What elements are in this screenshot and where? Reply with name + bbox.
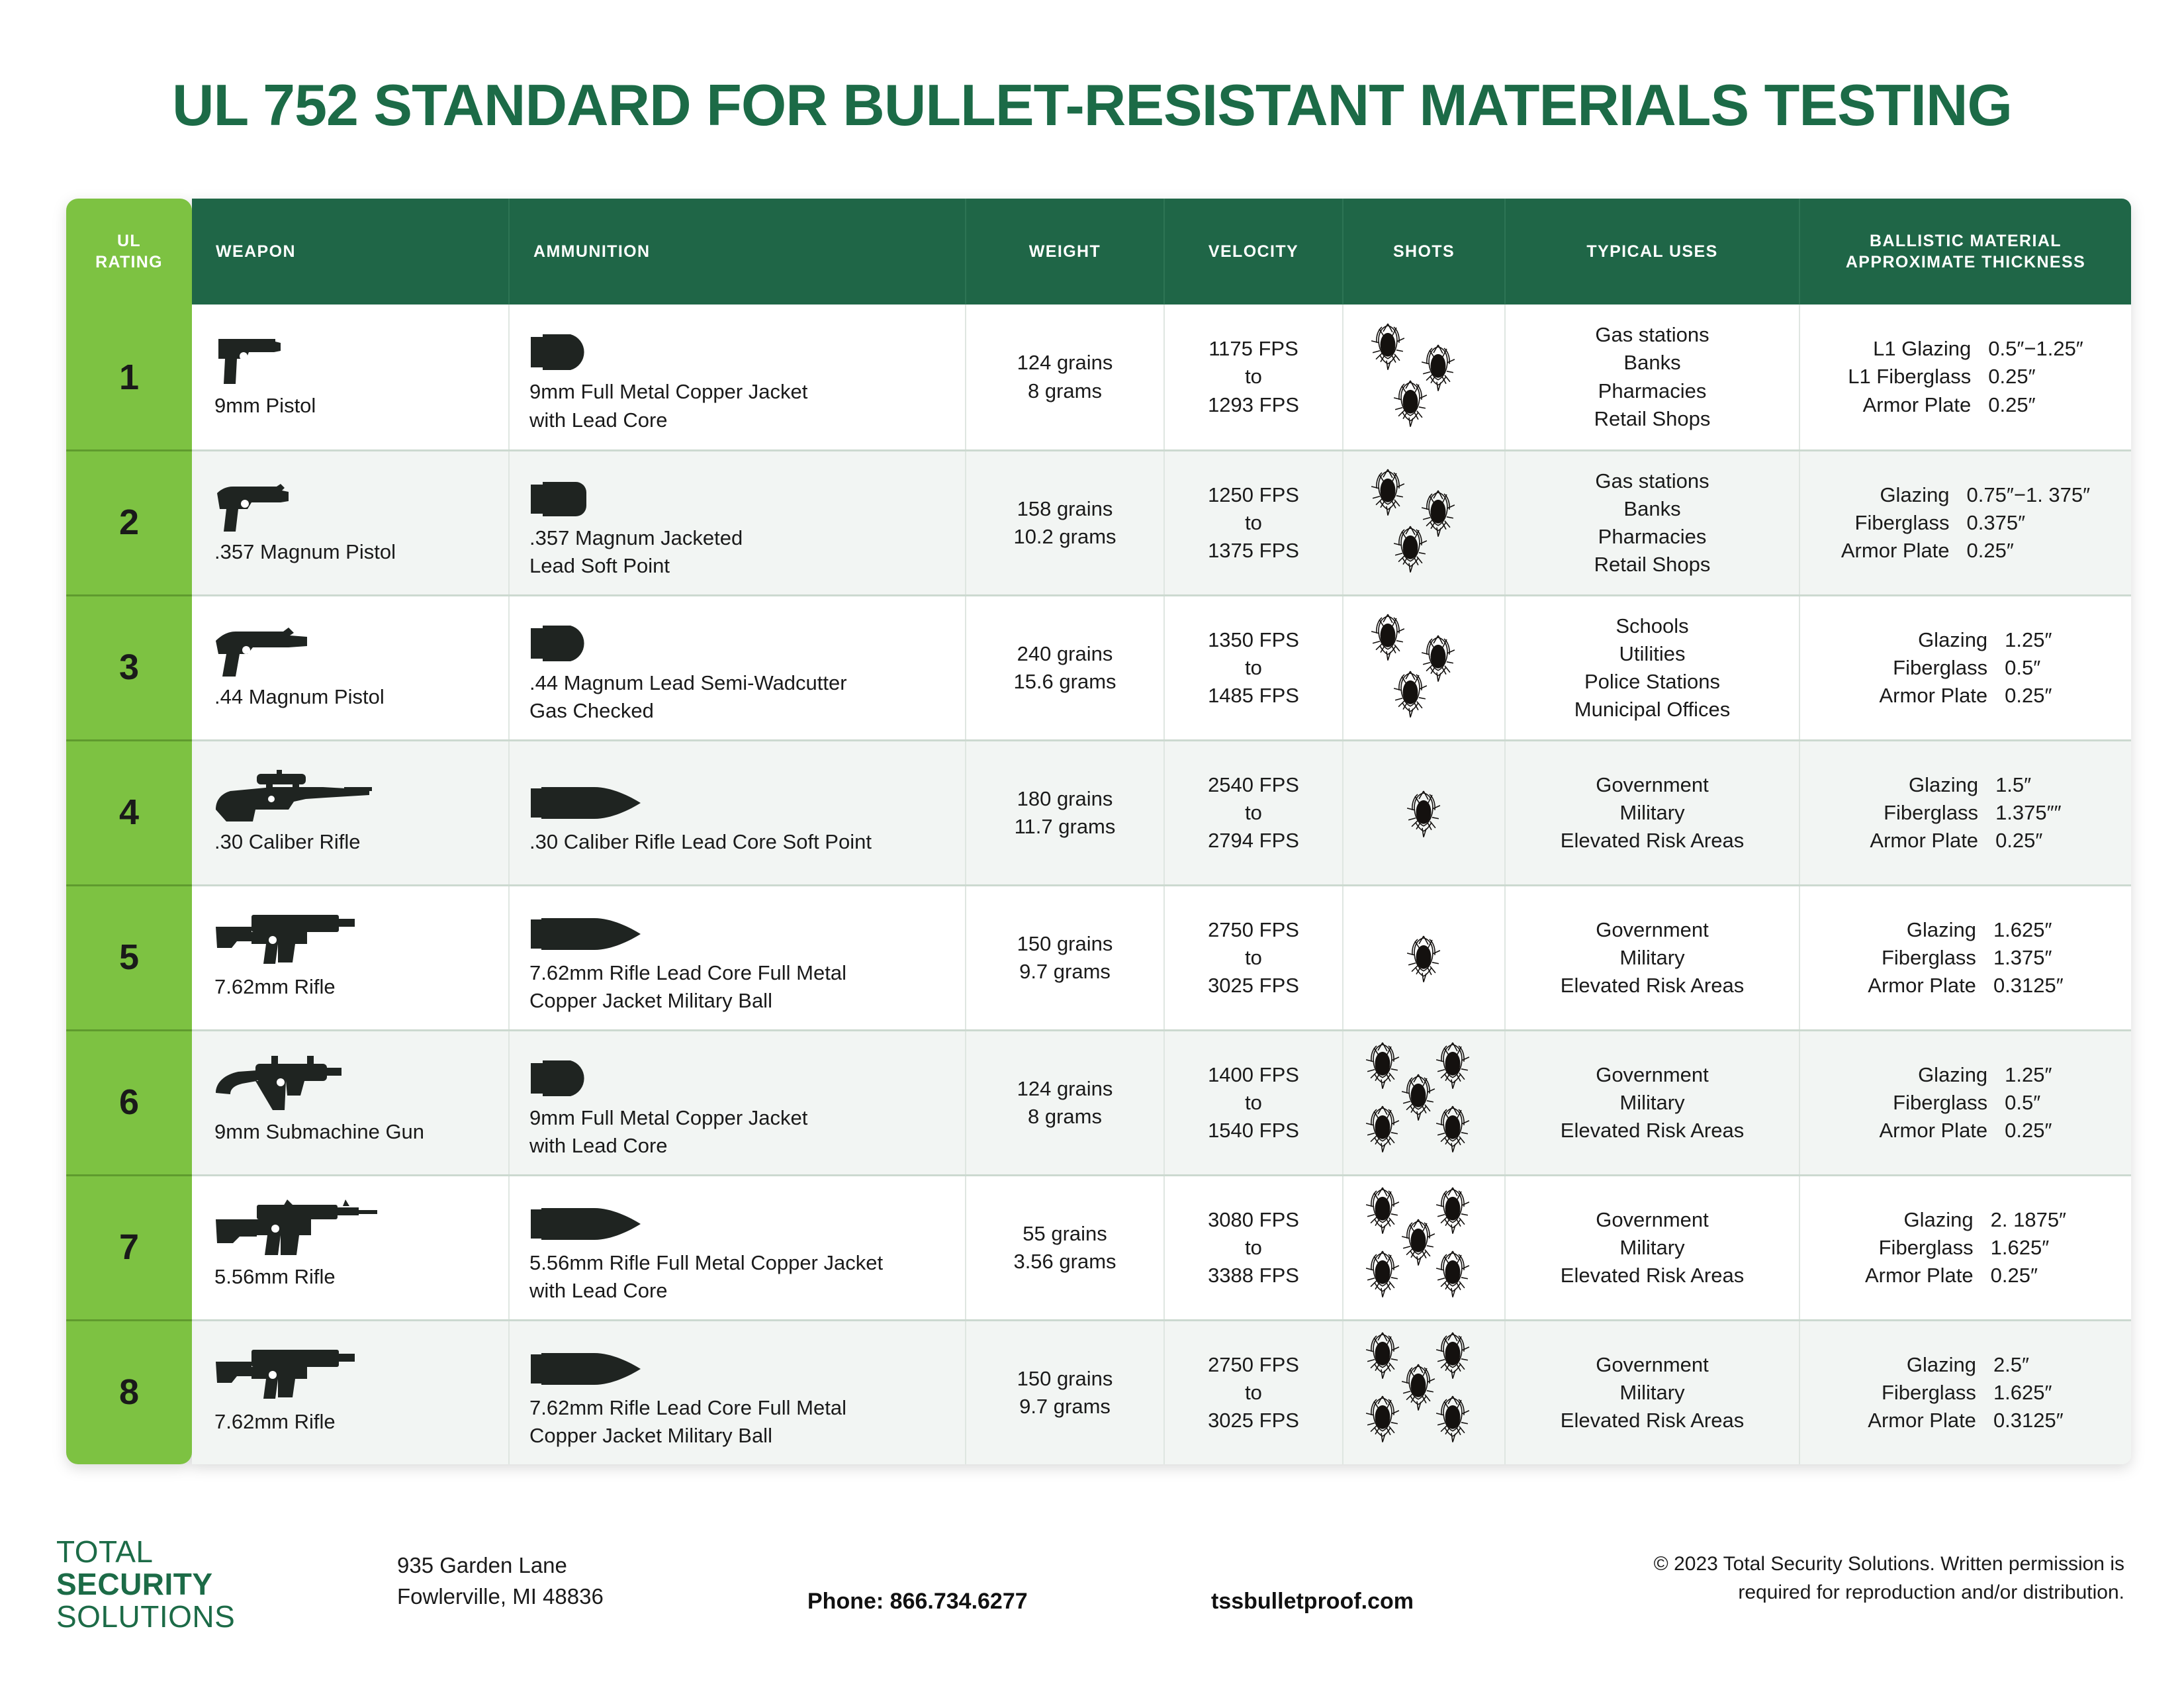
- velocity-cell: 1350 FPSto1485 FPS: [1165, 596, 1343, 739]
- velocity-cell: 1250 FPSto1375 FPS: [1165, 451, 1343, 594]
- table-row: 9mm Pistol9mm Full Metal Copper Jacketwi…: [192, 305, 2131, 449]
- company-logo: TOTAL SECURITY SOLUTIONS: [56, 1536, 235, 1632]
- ammunition-line-2: Copper Jacket Military Ball: [529, 1422, 772, 1450]
- address-line-2: Fowlerville, MI 48836: [397, 1581, 604, 1613]
- header-shots: SHOTS: [1343, 199, 1506, 305]
- ballistic-thickness-cell: Glazing1.25″Fiberglass0.5″Armor Plate0.2…: [1800, 596, 2131, 739]
- velocity-min: 1350 FPS: [1208, 626, 1299, 654]
- weight-grains: 124 grains: [1017, 1075, 1113, 1103]
- typical-use-item: Government: [1596, 916, 1709, 944]
- revolver-icon: [214, 480, 299, 532]
- thickness-value: 0.25″: [2005, 682, 2052, 710]
- velocity-cell: 2750 FPSto3025 FPS: [1165, 1321, 1343, 1464]
- thickness-material: Fiberglass: [1880, 654, 2005, 682]
- shots-cell: [1343, 596, 1506, 739]
- ul752-table-wrapper: UL RATING 12345678 WEAPON AMMUNITION WEI…: [66, 199, 2131, 1464]
- weight-grains: 240 grains: [1017, 640, 1113, 668]
- table-row: .30 Caliber Rifle.30 Caliber Rifle Lead …: [192, 739, 2131, 884]
- ballistic-thickness-cell: Glazing0.75″−1. 375″Fiberglass0.375″Armo…: [1800, 451, 2131, 594]
- bullet-hole-cluster: [1351, 605, 1497, 731]
- ammunition-cell: .30 Caliber Rifle Lead Core Soft Point: [510, 741, 966, 884]
- weight-grams: 3.56 grams: [1013, 1248, 1116, 1276]
- weapon-cell: 7.62mm Rifle: [192, 1321, 510, 1464]
- weight-cell: 124 grains8 grams: [966, 1031, 1165, 1174]
- thickness-material: Armor Plate: [1870, 827, 1995, 855]
- thickness-material: L1 Fiberglass: [1848, 363, 1988, 391]
- thickness-material: Armor Plate: [1865, 1262, 1991, 1289]
- thickness-row: Armor Plate0.25″: [1880, 1117, 2052, 1145]
- bullet-round-nose-icon: [529, 611, 601, 663]
- typical-use-item: Elevated Risk Areas: [1561, 1407, 1744, 1434]
- velocity-min: 1175 FPS: [1208, 335, 1298, 363]
- logo-line-total: TOTAL: [56, 1536, 235, 1568]
- velocity-separator: to: [1245, 1089, 1262, 1117]
- typical-use-item: Government: [1596, 1206, 1709, 1234]
- typical-use-item: Retail Shops: [1594, 551, 1711, 579]
- page-footer: TOTAL SECURITY SOLUTIONS 935 Garden Lane…: [0, 1516, 2184, 1688]
- carbine-rifle-icon: [214, 1205, 380, 1256]
- ul-rating-value: 6: [66, 1029, 192, 1174]
- thickness-material: Armor Plate: [1868, 972, 1993, 1000]
- thickness-value: 0.75″−1. 375″: [1967, 481, 2091, 509]
- thickness-material: Glazing: [1841, 481, 1967, 509]
- address-line-1: 935 Garden Lane: [397, 1550, 604, 1581]
- thickness-row: Fiberglass0.5″: [1880, 654, 2052, 682]
- bullet-hole-cluster: [1351, 895, 1497, 1021]
- header-thickness-line1: BALLISTIC MATERIAL: [1846, 230, 2085, 252]
- ballistic-thickness-cell: Glazing2. 1875″Fiberglass1.625″Armor Pla…: [1800, 1176, 2131, 1319]
- thickness-row: L1 Glazing0.5″−1.25″: [1848, 335, 2083, 363]
- thickness-material: Glazing: [1865, 1206, 1991, 1234]
- velocity-max: 1485 FPS: [1208, 682, 1299, 710]
- thickness-value: 0.375″: [1967, 509, 2091, 537]
- ammunition-cell: 7.62mm Rifle Lead Core Full MetalCopper …: [510, 1321, 966, 1464]
- header-weight: WEIGHT: [966, 199, 1165, 305]
- weight-grains: 150 grains: [1017, 1365, 1113, 1393]
- thickness-material: Armor Plate: [1868, 1407, 1993, 1434]
- typical-use-item: Military: [1619, 1089, 1684, 1117]
- thickness-value: 0.25″: [1967, 537, 2091, 565]
- weapon-cell: .44 Magnum Pistol: [192, 596, 510, 739]
- typical-uses-cell: Gas stationsBanksPharmaciesRetail Shops: [1506, 305, 1800, 449]
- shots-cell: [1343, 741, 1506, 884]
- ammunition-line-1: .30 Caliber Rifle Lead Core Soft Point: [529, 828, 872, 856]
- assault-rifle-icon: [214, 1350, 364, 1401]
- weight-grains: 150 grains: [1017, 930, 1113, 958]
- weight-grams: 9.7 grams: [1019, 958, 1111, 986]
- weapon-cell: 9mm Submachine Gun: [192, 1031, 510, 1174]
- ammunition-line-1: .44 Magnum Lead Semi-Wadcutter: [529, 669, 847, 697]
- thickness-row: Fiberglass1.625″: [1865, 1234, 2066, 1262]
- typical-use-item: Elevated Risk Areas: [1561, 1117, 1744, 1145]
- weight-grams: 10.2 grams: [1013, 523, 1116, 551]
- velocity-min: 1400 FPS: [1208, 1061, 1299, 1089]
- thickness-value: 1.375″: [1993, 944, 2064, 972]
- bullet-hole-cluster: [1351, 1040, 1497, 1166]
- typical-use-item: Gas stations: [1595, 321, 1709, 349]
- velocity-max: 1375 FPS: [1208, 537, 1299, 565]
- typical-use-item: Military: [1619, 799, 1684, 827]
- thickness-table: Glazing2.5″Fiberglass1.625″Armor Plate0.…: [1868, 1351, 2063, 1434]
- thickness-value: 0.25″: [1995, 827, 2062, 855]
- shots-cell: [1343, 1031, 1506, 1174]
- header-thickness-line2: APPROXIMATE THICKNESS: [1846, 252, 2085, 273]
- ul-rating-value: 1: [66, 305, 192, 449]
- velocity-max: 3025 FPS: [1208, 1407, 1299, 1434]
- thickness-value: 0.3125″: [1993, 972, 2064, 1000]
- shots-cell: [1343, 1321, 1506, 1464]
- shots-cell: [1343, 1176, 1506, 1319]
- thickness-material: Fiberglass: [1865, 1234, 1991, 1262]
- bullet-pointed-icon: [529, 1191, 642, 1243]
- typical-use-item: Banks: [1623, 349, 1680, 377]
- thickness-material: Glazing: [1870, 771, 1995, 799]
- weapon-cell: 9mm Pistol: [192, 305, 510, 449]
- thickness-value: 0.25″: [1988, 363, 2083, 391]
- velocity-cell: 1400 FPSto1540 FPS: [1165, 1031, 1343, 1174]
- weight-cell: 124 grains8 grams: [966, 305, 1165, 449]
- thickness-value: 0.5″: [2005, 1089, 2052, 1117]
- weight-grams: 8 grams: [1028, 377, 1102, 405]
- thickness-row: Fiberglass1.625″: [1868, 1379, 2063, 1407]
- typical-use-item: Police Stations: [1584, 668, 1720, 696]
- thickness-table: Glazing0.75″−1. 375″Fiberglass0.375″Armo…: [1841, 481, 2090, 565]
- weight-cell: 158 grains10.2 grams: [966, 451, 1165, 594]
- weight-grains: 124 grains: [1017, 349, 1113, 377]
- typical-use-item: Elevated Risk Areas: [1561, 1262, 1744, 1289]
- velocity-max: 3388 FPS: [1208, 1262, 1299, 1289]
- ul-rating-value: 3: [66, 594, 192, 739]
- weapon-cell: 7.62mm Rifle: [192, 886, 510, 1029]
- thickness-material: Fiberglass: [1841, 509, 1967, 537]
- velocity-min: 2540 FPS: [1208, 771, 1299, 799]
- table-row: 7.62mm Rifle7.62mm Rifle Lead Core Full …: [192, 884, 2131, 1029]
- ammunition-line-1: 9mm Full Metal Copper Jacket: [529, 1104, 807, 1132]
- weapon-label: 9mm Pistol: [214, 392, 316, 420]
- bullet-hole-cluster: [1351, 750, 1497, 876]
- velocity-cell: 3080 FPSto3388 FPS: [1165, 1176, 1343, 1319]
- ballistic-thickness-cell: Glazing1.625″Fiberglass1.375″Armor Plate…: [1800, 886, 2131, 1029]
- thickness-material: Armor Plate: [1880, 1117, 2005, 1145]
- thickness-row: Glazing1.25″: [1880, 1061, 2052, 1089]
- ammunition-line-2: with Lead Core: [529, 1132, 668, 1160]
- velocity-min: 1250 FPS: [1208, 481, 1299, 509]
- weight-cell: 180 grains11.7 grams: [966, 741, 1165, 884]
- thickness-row: Armor Plate0.3125″: [1868, 1407, 2063, 1434]
- weapon-cell: .30 Caliber Rifle: [192, 741, 510, 884]
- copyright-notice: © 2023 Total Security Solutions. Written…: [1542, 1550, 2124, 1607]
- thickness-value: 0.25″: [1988, 391, 2083, 419]
- bullet-pointed-icon: [529, 770, 642, 821]
- typical-use-item: Military: [1619, 1379, 1684, 1407]
- velocity-cell: 1175 FPSto1293 FPS: [1165, 305, 1343, 449]
- thickness-value: 1.5″: [1995, 771, 2062, 799]
- copyright-line-1: © 2023 Total Security Solutions. Written…: [1542, 1550, 2124, 1579]
- ul-rating-value: 4: [66, 739, 192, 884]
- ammunition-line-2: Gas Checked: [529, 697, 654, 725]
- bullet-pointed-icon: [529, 1336, 642, 1387]
- thickness-row: Glazing2.5″: [1868, 1351, 2063, 1379]
- thickness-value: 1.25″: [2005, 1061, 2052, 1089]
- velocity-separator: to: [1245, 509, 1262, 537]
- thickness-material: Glazing: [1880, 626, 2005, 654]
- weapon-label: .30 Caliber Rifle: [214, 828, 361, 856]
- thickness-material: Armor Plate: [1880, 682, 2005, 710]
- logo-line-solutions: SOLUTIONS: [56, 1601, 235, 1633]
- thickness-row: L1 Fiberglass0.25″: [1848, 363, 2083, 391]
- weight-cell: 150 grains9.7 grams: [966, 886, 1165, 1029]
- thickness-row: Fiberglass1.375″″: [1870, 799, 2061, 827]
- thickness-row: Armor Plate0.25″: [1865, 1262, 2066, 1289]
- typical-use-item: Banks: [1623, 495, 1680, 523]
- thickness-value: 2. 1875″: [1991, 1206, 2066, 1234]
- thickness-table: Glazing1.5″Fiberglass1.375″″Armor Plate0…: [1870, 771, 2061, 855]
- typical-use-item: Pharmacies: [1598, 377, 1707, 405]
- velocity-separator: to: [1245, 654, 1262, 682]
- table-row: .44 Magnum Pistol.44 Magnum Lead Semi-Wa…: [192, 594, 2131, 739]
- thickness-material: Glazing: [1868, 916, 1993, 944]
- shots-cell: [1343, 305, 1506, 449]
- weight-grams: 8 grams: [1028, 1103, 1102, 1131]
- ammunition-line-2: Copper Jacket Military Ball: [529, 987, 772, 1015]
- typical-uses-cell: SchoolsUtilitiesPolice StationsMunicipal…: [1506, 596, 1800, 739]
- bullet-round-nose-icon: [529, 320, 601, 371]
- weight-grains: 55 grains: [1023, 1220, 1107, 1248]
- velocity-cell: 2540 FPSto2794 FPS: [1165, 741, 1343, 884]
- ammunition-line-2: with Lead Core: [529, 1277, 668, 1305]
- velocity-separator: to: [1245, 799, 1262, 827]
- thickness-material: Fiberglass: [1870, 799, 1995, 827]
- thickness-table: L1 Glazing0.5″−1.25″L1 Fiberglass0.25″Ar…: [1848, 335, 2083, 418]
- weight-cell: 55 grains3.56 grams: [966, 1176, 1165, 1319]
- thickness-table: Glazing1.25″Fiberglass0.5″Armor Plate0.2…: [1880, 626, 2052, 710]
- velocity-separator: to: [1245, 1234, 1262, 1262]
- bullet-hole-cluster: [1351, 460, 1497, 586]
- assault-rifle-icon: [214, 915, 364, 966]
- ul-rating-value: 7: [66, 1174, 192, 1319]
- thickness-material: Armor Plate: [1848, 391, 1988, 419]
- velocity-max: 1293 FPS: [1208, 391, 1299, 419]
- company-phone[interactable]: Phone: 866.734.6277: [807, 1589, 1028, 1615]
- velocity-max: 1540 FPS: [1208, 1117, 1299, 1145]
- ammunition-line-1: 7.62mm Rifle Lead Core Full Metal: [529, 959, 846, 987]
- ul-rating-header-line2: RATING: [95, 252, 163, 273]
- typical-use-item: Government: [1596, 1351, 1709, 1379]
- thickness-value: 1.625″: [1993, 916, 2064, 944]
- thickness-row: Armor Plate0.25″: [1870, 827, 2061, 855]
- logo-line-security: SECURITY: [56, 1568, 235, 1601]
- thickness-value: 1.625″: [1993, 1379, 2064, 1407]
- typical-use-item: Utilities: [1619, 640, 1686, 668]
- table-row: .357 Magnum Pistol.357 Magnum JacketedLe…: [192, 449, 2131, 594]
- typical-use-item: Schools: [1615, 612, 1688, 640]
- ammunition-line-1: .357 Magnum Jacketed: [529, 524, 743, 552]
- ammunition-cell: .44 Magnum Lead Semi-WadcutterGas Checke…: [510, 596, 966, 739]
- thickness-row: Glazing1.25″: [1880, 626, 2052, 654]
- ammunition-cell: 9mm Full Metal Copper Jacketwith Lead Co…: [510, 1031, 966, 1174]
- ammunition-cell: 5.56mm Rifle Full Metal Copper Jacketwit…: [510, 1176, 966, 1319]
- velocity-min: 3080 FPS: [1208, 1206, 1299, 1234]
- ul-rating-header: UL RATING: [66, 199, 192, 305]
- velocity-separator: to: [1245, 363, 1262, 391]
- typical-uses-cell: GovernmentMilitaryElevated Risk Areas: [1506, 741, 1800, 884]
- table-row: 5.56mm Rifle5.56mm Rifle Full Metal Copp…: [192, 1174, 2131, 1319]
- thickness-row: Glazing1.5″: [1870, 771, 2061, 799]
- velocity-cell: 2750 FPSto3025 FPS: [1165, 886, 1343, 1029]
- typical-use-item: Elevated Risk Areas: [1561, 827, 1744, 855]
- header-ballistic-thickness: BALLISTIC MATERIAL APPROXIMATE THICKNESS: [1800, 199, 2131, 305]
- typical-use-item: Government: [1596, 771, 1709, 799]
- ammunition-cell: .357 Magnum JacketedLead Soft Point: [510, 451, 966, 594]
- thickness-row: Armor Plate0.3125″: [1868, 972, 2063, 1000]
- thickness-row: Armor Plate0.25″: [1841, 537, 2090, 565]
- revolver-long-barrel-icon: [214, 625, 311, 677]
- thickness-row: Glazing2. 1875″: [1865, 1206, 2066, 1234]
- header-typical-uses: TYPICAL USES: [1506, 199, 1800, 305]
- thickness-material: Armor Plate: [1841, 537, 1967, 565]
- header-weapon: WEAPON: [192, 199, 510, 305]
- ammunition-cell: 9mm Full Metal Copper Jacketwith Lead Co…: [510, 305, 966, 449]
- weight-cell: 240 grains15.6 grams: [966, 596, 1165, 739]
- thickness-material: L1 Glazing: [1848, 335, 1988, 363]
- weapon-label: 7.62mm Rifle: [214, 973, 336, 1001]
- table-row: 7.62mm Rifle7.62mm Rifle Lead Core Full …: [192, 1319, 2131, 1464]
- shots-cell: [1343, 451, 1506, 594]
- velocity-min: 2750 FPS: [1208, 916, 1299, 944]
- ammunition-line-1: 5.56mm Rifle Full Metal Copper Jacket: [529, 1249, 883, 1277]
- ammunition-line-1: 9mm Full Metal Copper Jacket: [529, 378, 807, 406]
- submachine-gun-icon: [214, 1060, 351, 1111]
- velocity-separator: to: [1245, 944, 1262, 972]
- thickness-value: 0.5″−1.25″: [1988, 335, 2083, 363]
- weapon-label: 7.62mm Rifle: [214, 1408, 336, 1436]
- velocity-min: 2750 FPS: [1208, 1351, 1299, 1379]
- company-website[interactable]: tssbulletproof.com: [1211, 1589, 1414, 1615]
- thickness-value: 0.25″: [2005, 1117, 2052, 1145]
- page-title: UL 752 STANDARD FOR BULLET-RESISTANT MAT…: [0, 71, 2184, 139]
- table-header-row: WEAPON AMMUNITION WEIGHT VELOCITY SHOTS …: [192, 199, 2131, 305]
- ballistic-thickness-cell: Glazing1.5″Fiberglass1.375″″Armor Plate0…: [1800, 741, 2131, 884]
- copyright-line-2: required for reproduction and/or distrib…: [1542, 1579, 2124, 1607]
- typical-use-item: Government: [1596, 1061, 1709, 1089]
- thickness-row: Glazing0.75″−1. 375″: [1841, 481, 2090, 509]
- thickness-table: Glazing2. 1875″Fiberglass1.625″Armor Pla…: [1865, 1206, 2066, 1289]
- typical-use-item: Elevated Risk Areas: [1561, 972, 1744, 1000]
- thickness-value: 1.25″: [2005, 626, 2052, 654]
- thickness-material: Glazing: [1868, 1351, 1993, 1379]
- ammunition-line-1: 7.62mm Rifle Lead Core Full Metal: [529, 1394, 846, 1422]
- ammunition-line-2: with Lead Core: [529, 406, 668, 434]
- bullet-flat-nose-icon: [529, 466, 601, 518]
- table-row: 9mm Submachine Gun9mm Full Metal Copper …: [192, 1029, 2131, 1174]
- weight-cell: 150 grains9.7 grams: [966, 1321, 1165, 1464]
- bullet-hole-cluster: [1351, 1330, 1497, 1456]
- typical-uses-cell: GovernmentMilitaryElevated Risk Areas: [1506, 1321, 1800, 1464]
- weapon-label: 5.56mm Rifle: [214, 1263, 336, 1291]
- bullet-pointed-icon: [529, 901, 642, 953]
- thickness-row: Fiberglass0.5″: [1880, 1089, 2052, 1117]
- weight-grams: 11.7 grams: [1015, 813, 1116, 841]
- typical-uses-cell: Gas stationsBanksPharmaciesRetail Shops: [1506, 451, 1800, 594]
- weight-grains: 158 grains: [1017, 495, 1113, 523]
- weight-grams: 15.6 grams: [1013, 668, 1116, 696]
- typical-uses-cell: GovernmentMilitaryElevated Risk Areas: [1506, 886, 1800, 1029]
- thickness-row: Armor Plate0.25″: [1880, 682, 2052, 710]
- weapon-cell: .357 Magnum Pistol: [192, 451, 510, 594]
- ul-rating-value: 5: [66, 884, 192, 1029]
- thickness-material: Fiberglass: [1868, 1379, 1993, 1407]
- weapon-label: .357 Magnum Pistol: [214, 538, 396, 566]
- velocity-separator: to: [1245, 1379, 1262, 1407]
- thickness-row: Armor Plate0.25″: [1848, 391, 2083, 419]
- header-ammunition: AMMUNITION: [510, 199, 966, 305]
- thickness-row: Fiberglass0.375″: [1841, 509, 2090, 537]
- weight-grams: 9.7 grams: [1019, 1393, 1111, 1421]
- shots-cell: [1343, 886, 1506, 1029]
- weapon-label: 9mm Submachine Gun: [214, 1118, 424, 1146]
- weapon-cell: 5.56mm Rifle: [192, 1176, 510, 1319]
- table-grid: WEAPON AMMUNITION WEIGHT VELOCITY SHOTS …: [192, 199, 2131, 1464]
- weapon-label: .44 Magnum Pistol: [214, 683, 385, 711]
- header-velocity: VELOCITY: [1165, 199, 1343, 305]
- velocity-max: 2794 FPS: [1208, 827, 1299, 855]
- typical-use-item: Municipal Offices: [1574, 696, 1730, 724]
- ul752-table: UL RATING 12345678 WEAPON AMMUNITION WEI…: [66, 199, 2131, 1464]
- typical-uses-cell: GovernmentMilitaryElevated Risk Areas: [1506, 1176, 1800, 1319]
- thickness-value: 2.5″: [1993, 1351, 2064, 1379]
- thickness-value: 0.3125″: [1993, 1407, 2064, 1434]
- ul-rating-value: 2: [66, 449, 192, 594]
- ul-rating-column: 12345678: [66, 305, 192, 1464]
- thickness-table: Glazing1.25″Fiberglass0.5″Armor Plate0.2…: [1880, 1061, 2052, 1145]
- thickness-table: Glazing1.625″Fiberglass1.375″Armor Plate…: [1868, 916, 2063, 1000]
- ammunition-line-2: Lead Soft Point: [529, 552, 670, 580]
- thickness-row: Glazing1.625″: [1868, 916, 2063, 944]
- typical-use-item: Pharmacies: [1598, 523, 1707, 551]
- bullet-hole-cluster: [1351, 314, 1497, 440]
- typical-use-item: Retail Shops: [1594, 405, 1711, 433]
- bullet-round-nose-icon: [529, 1046, 601, 1098]
- ballistic-thickness-cell: Glazing1.25″Fiberglass0.5″Armor Plate0.2…: [1800, 1031, 2131, 1174]
- ul-rating-value: 8: [66, 1319, 192, 1464]
- thickness-value: 0.25″: [1991, 1262, 2066, 1289]
- thickness-material: Fiberglass: [1868, 944, 1993, 972]
- ammunition-cell: 7.62mm Rifle Lead Core Full MetalCopper …: [510, 886, 966, 1029]
- weight-grains: 180 grains: [1017, 785, 1113, 813]
- thickness-value: 1.625″: [1991, 1234, 2066, 1262]
- typical-use-item: Military: [1619, 1234, 1684, 1262]
- ballistic-thickness-cell: Glazing2.5″Fiberglass1.625″Armor Plate0.…: [1800, 1321, 2131, 1464]
- thickness-row: Fiberglass1.375″: [1868, 944, 2063, 972]
- thickness-value: 1.375″″: [1995, 799, 2062, 827]
- company-address: 935 Garden Lane Fowlerville, MI 48836: [397, 1550, 604, 1613]
- ballistic-thickness-cell: L1 Glazing0.5″−1.25″L1 Fiberglass0.25″Ar…: [1800, 305, 2131, 449]
- thickness-value: 0.5″: [2005, 654, 2052, 682]
- scoped-rifle-icon: [214, 770, 380, 821]
- velocity-max: 3025 FPS: [1208, 972, 1299, 1000]
- infographic-page: UL 752 STANDARD FOR BULLET-RESISTANT MAT…: [0, 0, 2184, 1688]
- typical-use-item: Military: [1619, 944, 1684, 972]
- ul-rating-header-line1: UL: [117, 230, 141, 252]
- thickness-material: Fiberglass: [1880, 1089, 2005, 1117]
- thickness-material: Glazing: [1880, 1061, 2005, 1089]
- bullet-hole-cluster: [1351, 1185, 1497, 1311]
- typical-use-item: Gas stations: [1595, 467, 1709, 495]
- pistol-icon: [214, 334, 293, 385]
- typical-uses-cell: GovernmentMilitaryElevated Risk Areas: [1506, 1031, 1800, 1174]
